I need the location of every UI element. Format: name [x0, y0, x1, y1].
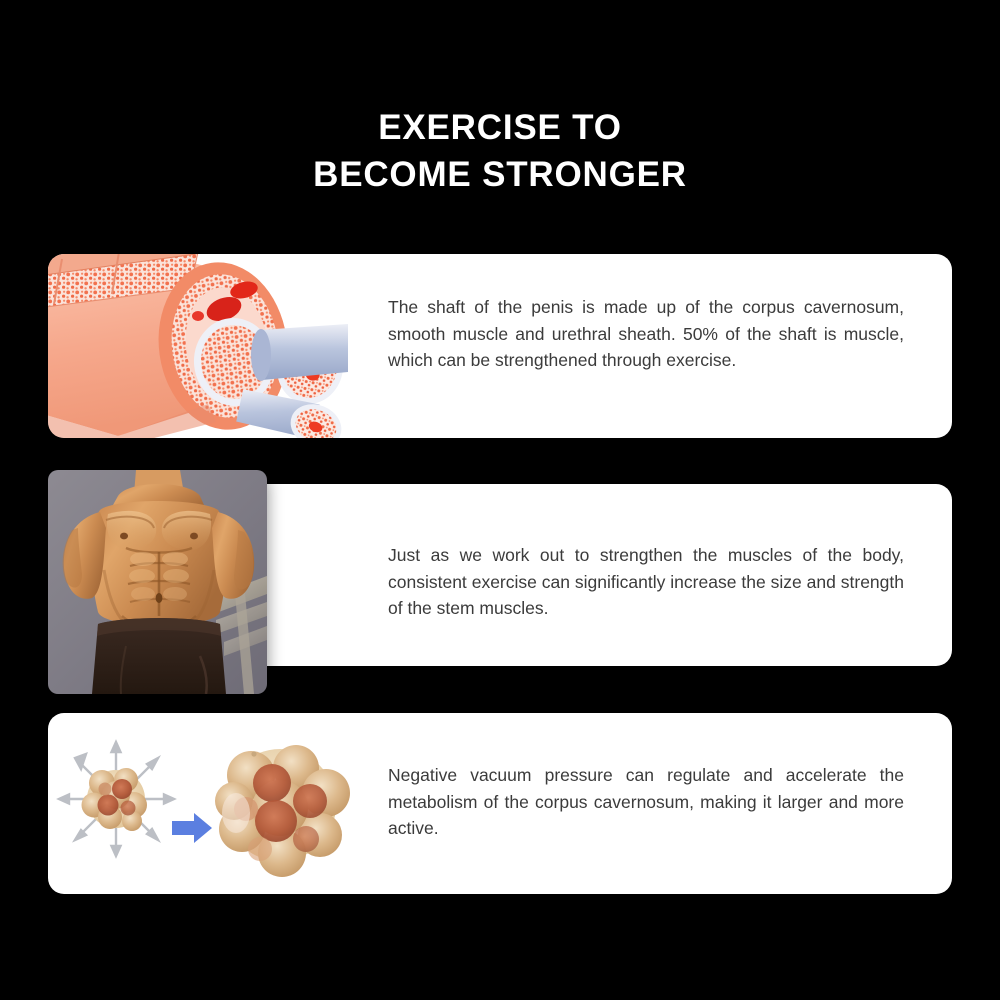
- title-line-2: BECOME STRONGER: [0, 151, 1000, 198]
- title-line-1: EXERCISE TO: [0, 104, 1000, 151]
- card-1-text: The shaft of the penis is made up of the…: [388, 294, 904, 374]
- infographic-page: EXERCISE TO BECOME STRONGER: [0, 0, 1000, 1000]
- page-title: EXERCISE TO BECOME STRONGER: [0, 104, 1000, 198]
- bodybuilder-torso-photo: [48, 470, 267, 694]
- card-2-text: Just as we work out to strengthen the mu…: [388, 542, 904, 622]
- penis-cross-section-anatomy-illustration: [48, 254, 348, 438]
- info-card-cell-growth: Negative vacuum pressure can regulate an…: [48, 713, 952, 894]
- info-card-anatomy: The shaft of the penis is made up of the…: [48, 254, 952, 438]
- card-3-text: Negative vacuum pressure can regulate an…: [388, 762, 904, 842]
- cell-growth-before-after-illustration: [48, 713, 368, 894]
